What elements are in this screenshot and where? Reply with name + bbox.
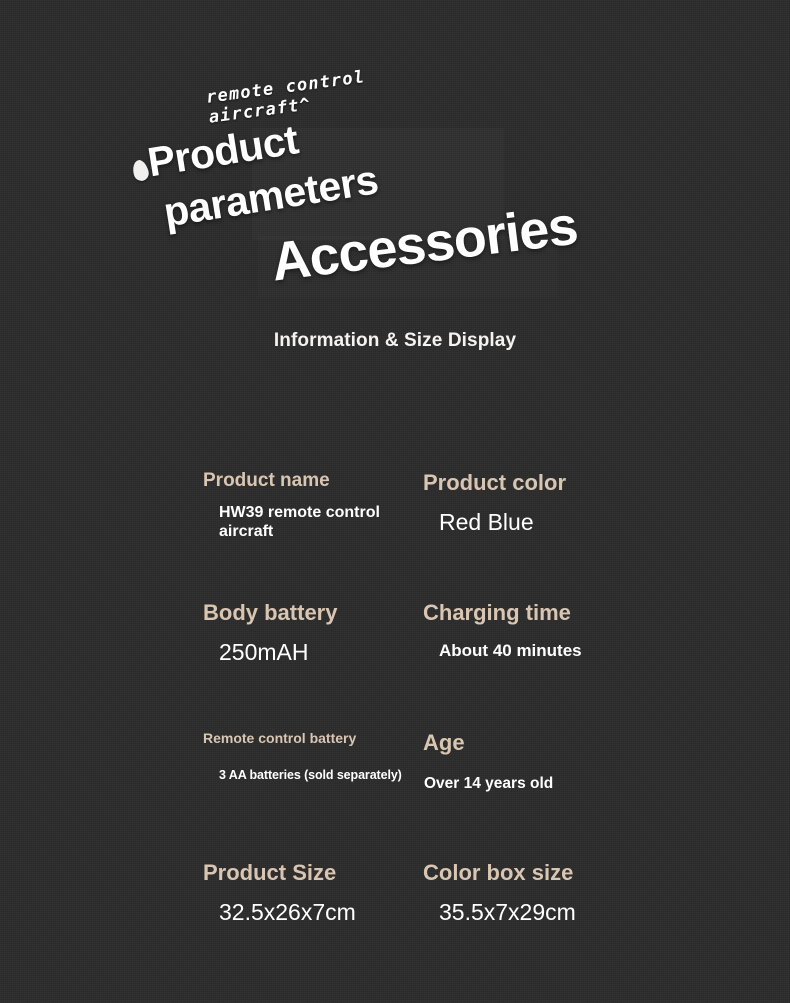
spec-label: Product Size (200, 860, 416, 885)
spec-value: 3 AA batteries (sold separately) (200, 768, 416, 783)
spec-cell-product-name: Product name HW39 remote control aircraf… (200, 470, 416, 542)
spec-value: 35.5x7x29cm (420, 899, 636, 926)
table-row: Product name HW39 remote control aircraf… (0, 470, 790, 600)
page-header: remote control aircraft^ Product paramet… (0, 0, 790, 320)
spec-cell-product-color: Product color Red Blue (420, 470, 636, 536)
product-parameters-page: remote control aircraft^ Product paramet… (0, 0, 790, 1003)
spec-value: HW39 remote control aircraft (200, 504, 414, 542)
spec-value: Red Blue (420, 509, 636, 536)
table-row: Body battery 250mAH Charging time About … (0, 600, 790, 730)
spec-label: Charging time (420, 600, 636, 625)
spec-cell-remote-control-battery: Remote control battery 3 AA batteries (s… (200, 730, 416, 783)
spec-cell-color-box-size: Color box size 35.5x7x29cm (420, 860, 636, 926)
page-title: Product parameters (144, 102, 382, 241)
spec-cell-product-size: Product Size 32.5x26x7cm (200, 860, 416, 926)
spec-value: About 40 minutes (420, 641, 636, 661)
page-subtitle: Information & Size Display (0, 330, 790, 352)
spec-label: Body battery (200, 600, 416, 625)
specifications-table: Product name HW39 remote control aircraf… (0, 470, 790, 990)
table-row: Product Size 32.5x26x7cm Color box size … (0, 860, 790, 990)
spec-label: Age (420, 730, 636, 755)
spec-label: Remote control battery (200, 730, 416, 746)
spec-cell-age: Age Over 14 years old (420, 730, 636, 794)
table-row: Remote control battery 3 AA batteries (s… (0, 730, 790, 860)
spec-value: Over 14 years old (420, 775, 636, 793)
spec-value: 250mAH (200, 639, 416, 666)
spec-value: 32.5x26x7cm (200, 899, 416, 926)
spec-label: Color box size (420, 860, 636, 885)
spec-cell-body-battery: Body battery 250mAH (200, 600, 416, 666)
spec-cell-charging-time: Charging time About 40 minutes (420, 600, 636, 661)
spec-label: Product color (420, 470, 636, 495)
spec-label: Product name (200, 470, 416, 492)
